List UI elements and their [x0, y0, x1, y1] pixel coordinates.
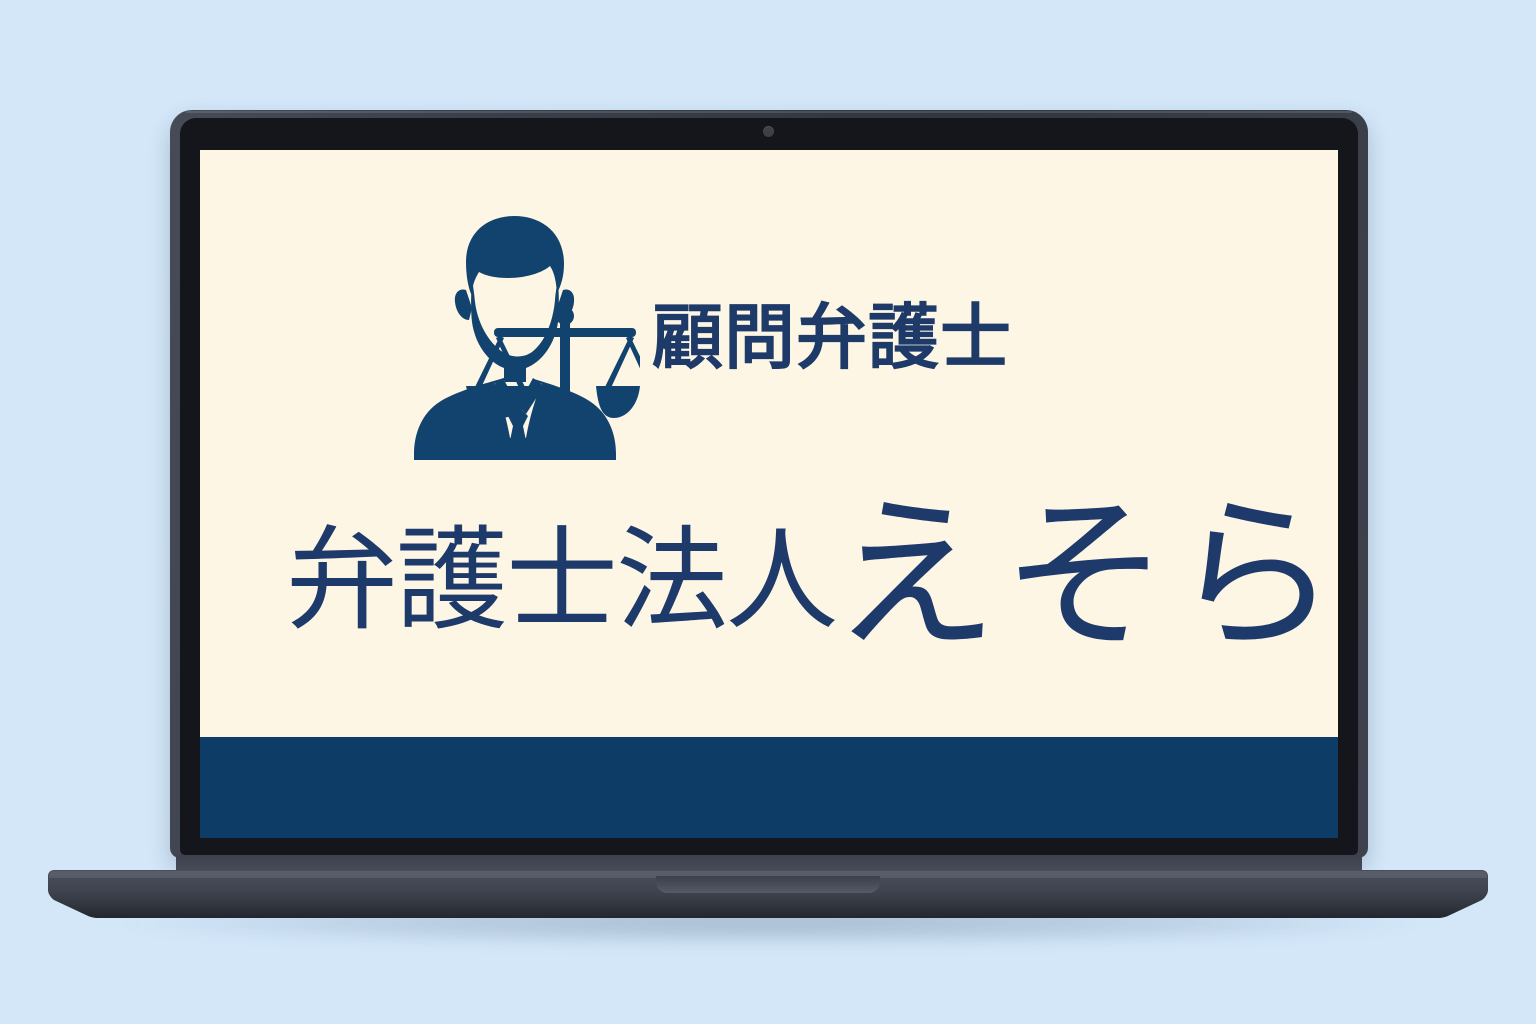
slide-content: 顧問弁護士 弁護士法人 えそら	[200, 150, 1338, 737]
page-subheading-komon-bengoshi: 顧問弁護士	[652, 302, 1012, 373]
slide-footer-band	[200, 737, 1338, 838]
firm-name-kanji: 弁護士法人	[286, 525, 836, 637]
laptop-base-notch	[656, 876, 880, 893]
laptop-device: 顧問弁護士 弁護士法人 えそら	[0, 0, 1536, 1024]
lawyer-with-scales-icon	[404, 210, 640, 460]
scene-canvas: 顧問弁護士 弁護士法人 えそら	[0, 0, 1536, 1024]
webcam-icon	[763, 126, 774, 137]
firm-name-kana: えそら	[832, 494, 1338, 660]
firm-name-lockup: 弁護士法人 えそら	[286, 480, 1338, 646]
laptop-display[interactable]: 顧問弁護士 弁護士法人 えそら	[200, 150, 1338, 838]
